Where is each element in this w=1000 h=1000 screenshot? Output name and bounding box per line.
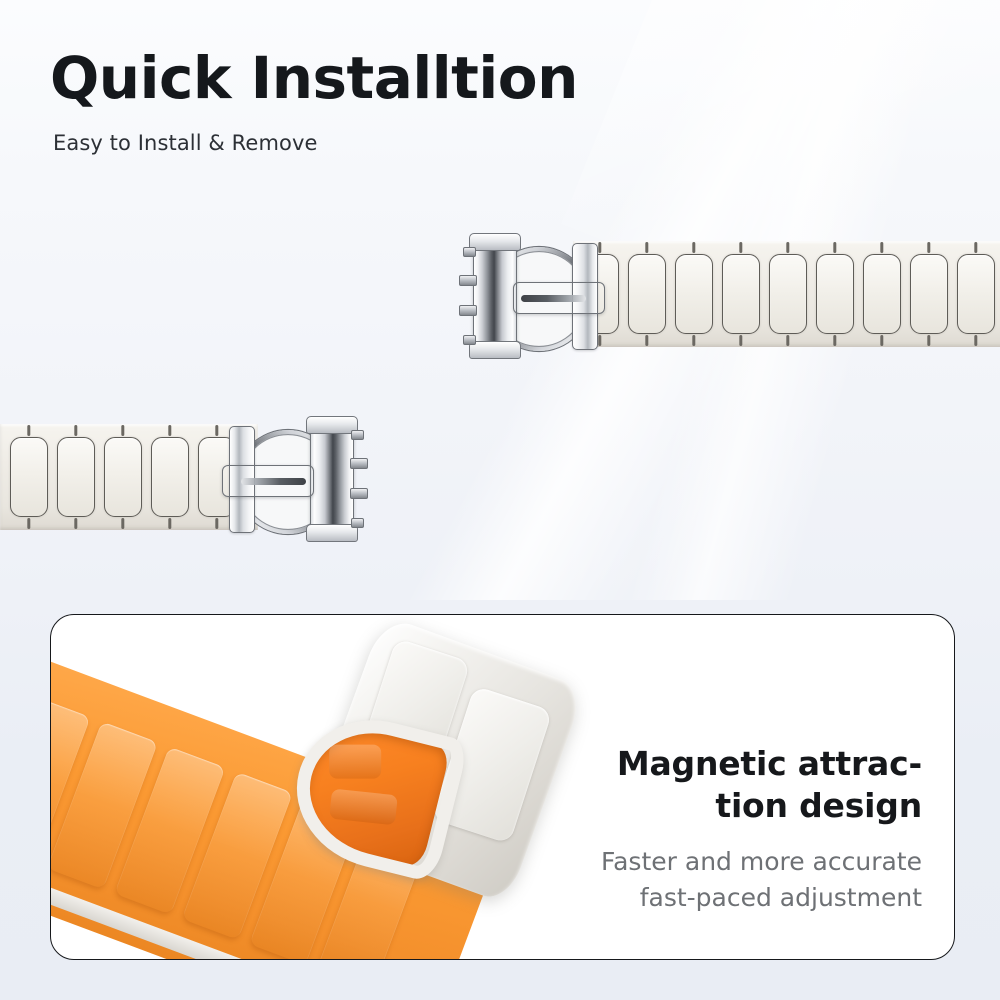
upper-band-strip <box>455 225 1000 365</box>
keeper-highlight-stripe <box>241 478 306 485</box>
connector-keeper-bar <box>222 465 314 497</box>
connector-pin <box>463 335 476 345</box>
band-segment <box>722 254 760 334</box>
keeper-highlight-stripe <box>521 295 586 302</box>
band-segment <box>910 254 948 334</box>
connector-pin <box>463 247 476 257</box>
band-segment <box>57 437 95 517</box>
band-segment <box>104 437 142 517</box>
connector-lug-plate <box>473 239 517 353</box>
band-segment <box>769 254 807 334</box>
connector-keeper-bar <box>513 282 605 314</box>
card-title-line-2: tion design <box>592 785 922 827</box>
card-subtitle-line-1: Faster and more accurate <box>522 844 922 880</box>
band-segment <box>10 437 48 517</box>
product-marketing-image: Quick Installtion Easy to Install & Remo… <box>0 0 1000 1000</box>
band-segment <box>957 254 995 334</box>
page-subtitle: Easy to Install & Remove <box>53 131 318 155</box>
band-segment <box>151 437 189 517</box>
connector-lug-cap-top <box>469 233 521 251</box>
connector-pin <box>459 275 477 286</box>
band-segment <box>628 254 666 334</box>
connector-lug-cap-bottom <box>469 341 521 359</box>
magnetic-design-card: Magnetic attrac- tion design Faster and … <box>50 614 955 960</box>
card-title-line-1: Magnetic attrac- <box>592 743 922 785</box>
connector-pin <box>459 305 477 316</box>
page-title: Quick Installtion <box>50 48 578 109</box>
connector-pin <box>350 488 368 499</box>
upper-band-body <box>573 241 1000 347</box>
connector-pin <box>350 458 368 469</box>
connector-pin <box>351 518 364 528</box>
upper-metal-connector <box>455 225 625 365</box>
lower-band-strip <box>0 408 372 548</box>
lower-metal-connector <box>202 408 372 548</box>
card-subtitle: Faster and more accurate fast-paced adju… <box>522 844 922 915</box>
band-segment <box>816 254 854 334</box>
card-title: Magnetic attrac- tion design <box>592 743 922 827</box>
connector-pin <box>351 430 364 440</box>
card-subtitle-line-2: fast-paced adjustment <box>522 880 922 916</box>
connector-lug-plate <box>310 422 354 536</box>
band-segment <box>863 254 901 334</box>
band-segment <box>675 254 713 334</box>
